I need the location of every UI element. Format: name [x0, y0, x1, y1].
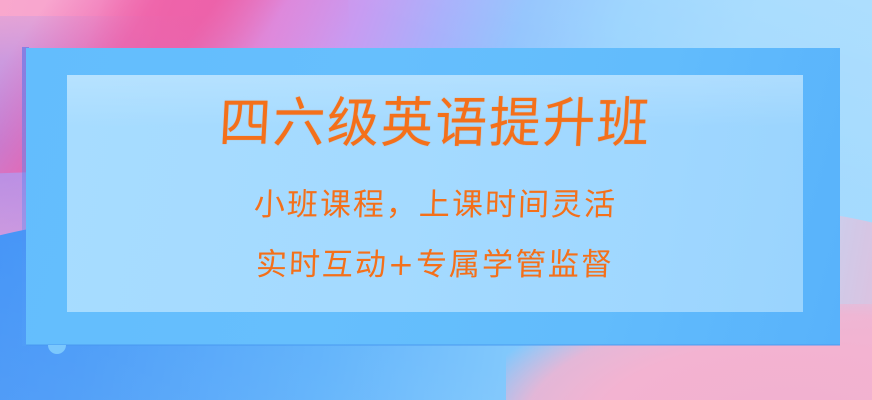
frame-bottom-edge	[26, 344, 840, 346]
promo-poster: 四六级英语提升班 小班课程，上课时间灵活 实时互动+专属学管监督	[0, 0, 872, 400]
poster-text-block: 四六级英语提升班 小班课程，上课时间灵活 实时互动+专属学管监督	[67, 75, 803, 312]
poster-subline-2: 实时互动+专属学管监督	[255, 248, 614, 282]
poster-subline-1: 小班课程，上课时间灵活	[253, 188, 617, 222]
poster-headline: 四六级英语提升班	[217, 96, 652, 153]
